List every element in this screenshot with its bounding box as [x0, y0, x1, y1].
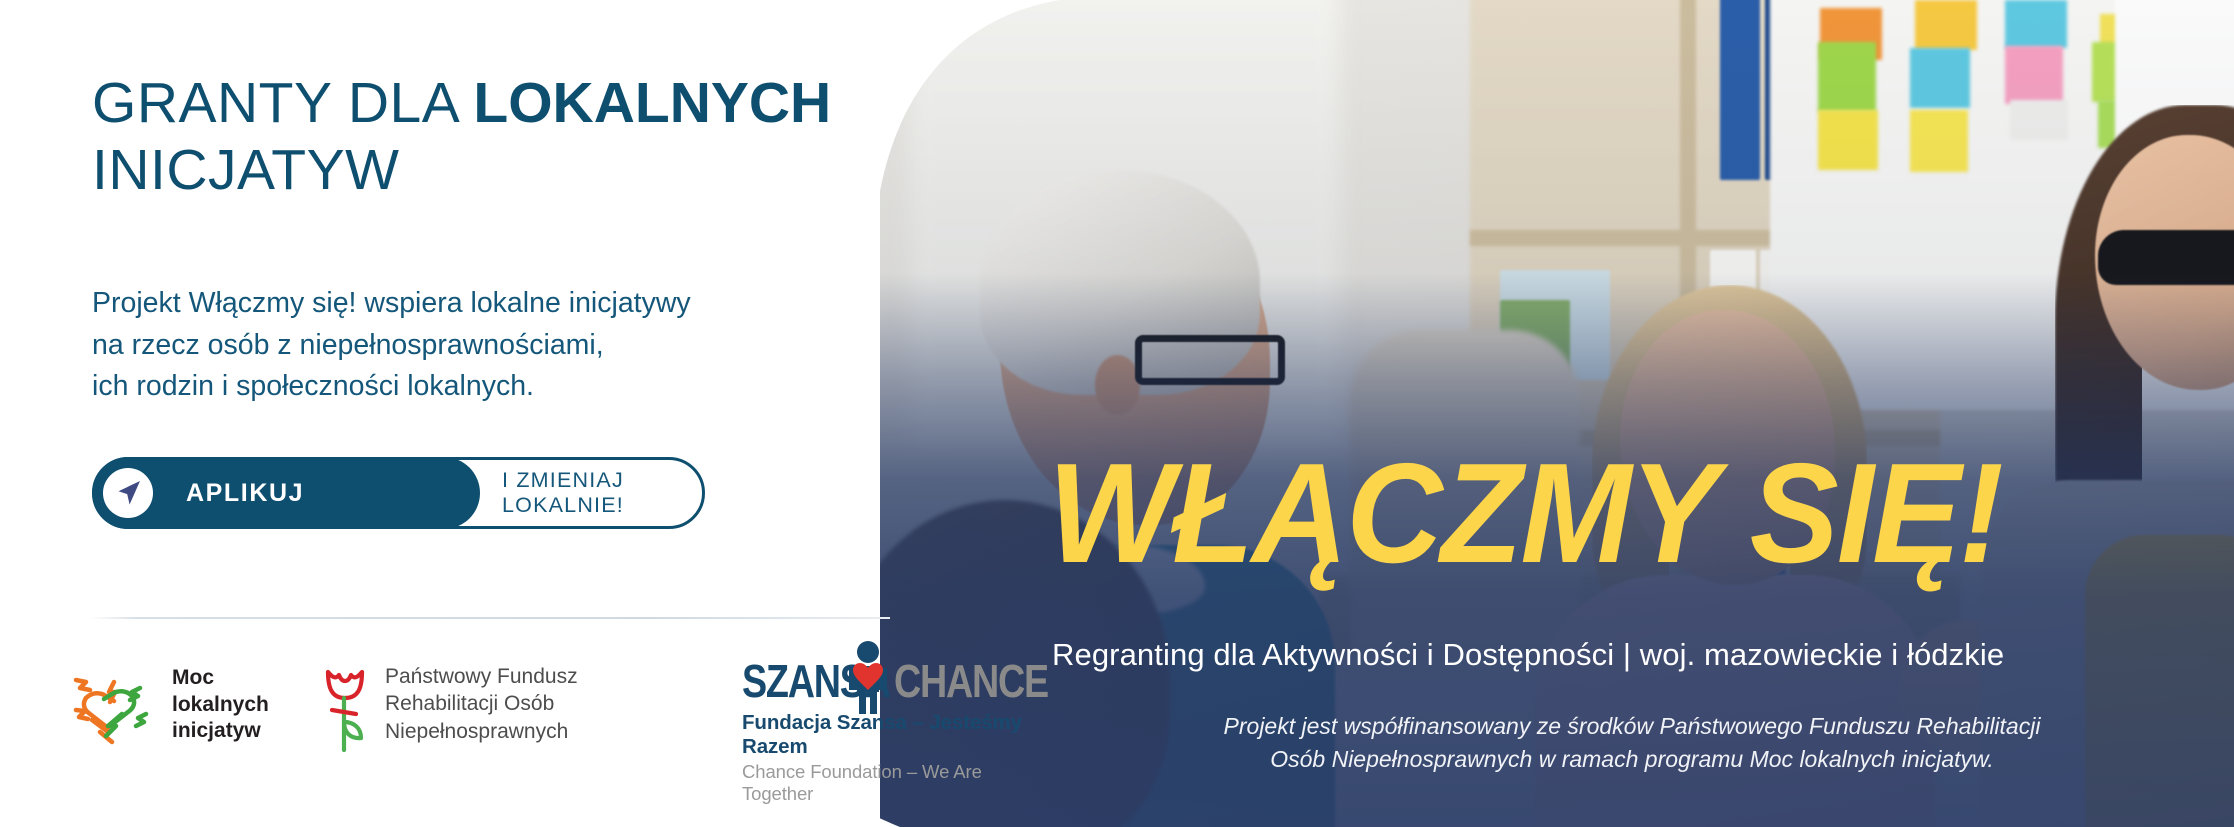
logo-moc-lokalnych-inicjatyw: Moc lokalnych inicjatyw [62, 658, 269, 752]
headline-line2: INICJATYW [92, 138, 399, 202]
logo-moc-line1: Moc [172, 666, 214, 689]
cta-secondary-label: I ZMIENIAJ LOKALNIE! [502, 457, 702, 529]
logo-moc-line2: lokalnych [172, 693, 269, 716]
logo-pfron-line2: Rehabilitacji Osób [385, 692, 554, 715]
logo-chance-word: CHANCE [894, 654, 1048, 708]
handshake-lightning-icon [62, 658, 162, 752]
logo-moc-text: Moc lokalnych inicjatyw [172, 665, 269, 744]
logo-szansa-chance: SZANSA CHANCE Fundacja Szansa – Jest [742, 652, 1037, 805]
logo-pfron-text: Państwowy Fundusz Rehabilitacji Osób Nie… [385, 663, 578, 745]
logo-pfron: Państwowy Fundusz Rehabilitacji Osób Nie… [315, 656, 578, 752]
meeting-photo [880, 0, 2234, 827]
headline-line1-bold: LOKALNYCH [473, 71, 831, 135]
person-with-heart-icon [837, 640, 899, 714]
apply-cta[interactable]: APLIKUJ I ZMIENIAJ LOKALNIE! [92, 457, 705, 529]
page-title: GRANTY DLA LOKALNYCH INICJATYW [92, 70, 922, 203]
lede-line-1: Projekt Włączmy się! wspiera lokalne ini… [92, 283, 912, 325]
logo-pfron-line1: Państwowy Fundusz [385, 665, 578, 688]
photo-blue-overlay [880, 0, 2234, 827]
partner-logos: Moc lokalnych inicjatyw Państwowy Fund [62, 648, 992, 768]
logo-moc-line3: inicjatyw [172, 719, 261, 742]
headline-line1-light: GRANTY DLA [92, 71, 473, 135]
promotional-banner: GRANTY DLA LOKALNYCH INICJATYW Projekt W… [0, 0, 2234, 827]
logo-pfron-line3: Niepełnosprawnych [385, 720, 568, 743]
logo-szansa-tagline-pl: Fundacja Szansa – Jesteśmy Razem [742, 711, 1037, 759]
section-divider [90, 617, 890, 619]
left-content-panel: GRANTY DLA LOKALNYCH INICJATYW Projekt W… [0, 0, 1010, 827]
logo-szansa-tagline-en: Chance Foundation – We Are Together [742, 761, 1037, 805]
lede-line-2: na rzecz osób z niepełnosprawnościami, [92, 325, 912, 367]
lede-paragraph: Projekt Włączmy się! wspiera lokalne ini… [92, 283, 912, 408]
tulip-icon [315, 656, 375, 752]
navigation-arrow-icon [103, 468, 153, 518]
apply-button-label: APLIKUJ [186, 457, 436, 529]
lede-line-3: ich rodzin i społeczności lokalnych. [92, 366, 912, 408]
